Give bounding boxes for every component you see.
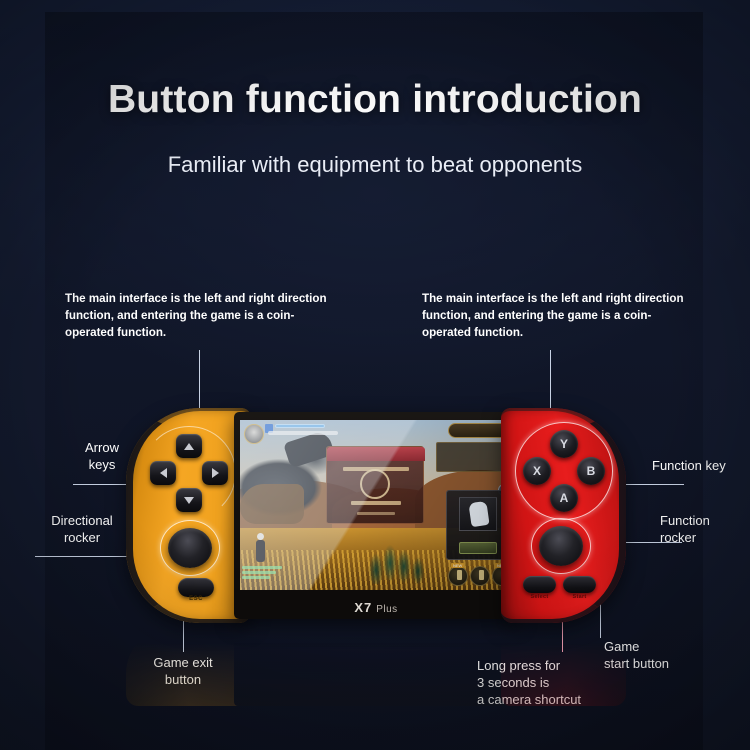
chat-line xyxy=(242,576,270,579)
game-dialog-text xyxy=(351,501,401,505)
label-game-start-button: Game start button xyxy=(604,639,716,673)
label-game-exit-button: Game exit button xyxy=(130,655,236,689)
button-b[interactable]: B xyxy=(577,457,605,485)
button-a[interactable]: A xyxy=(550,484,578,512)
hud-chat-log xyxy=(242,566,284,588)
arrow-down-icon xyxy=(184,497,194,504)
left-analog-stick[interactable] xyxy=(168,528,212,568)
select-button-label: Select xyxy=(523,594,556,600)
console-body: ✕ NEW NEW xyxy=(234,412,518,619)
dpad-glow-ring xyxy=(142,426,236,520)
label-directional-rocker: Directional rocker xyxy=(28,513,136,547)
hud-quest-panel xyxy=(436,442,508,472)
button-y[interactable]: Y xyxy=(550,430,578,458)
right-grip: Y X B A Select Start xyxy=(501,408,626,623)
reflection-body xyxy=(234,632,518,706)
dpad-down-button[interactable] xyxy=(176,488,202,512)
callout-top-left: The main interface is the left and right… xyxy=(65,291,343,341)
face-buttons[interactable]: Y X B A xyxy=(523,430,605,512)
glove-icon xyxy=(468,501,489,527)
game-dialog-header xyxy=(327,447,425,461)
new-badge: NEW xyxy=(451,563,464,568)
trophy-icon xyxy=(457,570,462,580)
chat-line xyxy=(242,566,282,569)
hud-health-bar-frame xyxy=(275,424,325,428)
right-analog-stick[interactable] xyxy=(539,526,583,566)
left-grip: ESC xyxy=(126,408,251,623)
hud-xp-bar xyxy=(268,431,338,435)
button-x[interactable]: X xyxy=(523,457,551,485)
arrow-up-icon xyxy=(184,443,194,450)
esc-button-label: ESC xyxy=(178,596,214,602)
hud-avatar xyxy=(244,424,264,444)
game-hero-character xyxy=(256,540,265,562)
dpad-left-button[interactable] xyxy=(150,461,176,485)
game-dialog[interactable] xyxy=(326,446,424,524)
game-screen[interactable]: ✕ NEW NEW xyxy=(240,420,512,590)
select-button[interactable] xyxy=(523,576,556,593)
dpad-right-button[interactable] xyxy=(202,461,228,485)
right-stick-glow-ring xyxy=(531,518,591,574)
game-dialog-ring-icon xyxy=(360,469,390,499)
page-title: Button function introduction xyxy=(0,78,750,122)
infographic-canvas: Button function introduction Familiar wi… xyxy=(0,0,750,750)
label-function-key: Function key xyxy=(652,458,748,475)
hud-quick-button[interactable] xyxy=(470,566,490,586)
page-subtitle: Familiar with equipment to beat opponent… xyxy=(0,152,750,178)
handheld-console: ESC xyxy=(126,408,626,623)
arrow-left-icon xyxy=(160,468,167,478)
game-bush xyxy=(362,538,432,584)
brand-label: X7Plus xyxy=(234,600,518,615)
brand-suffix: Plus xyxy=(376,604,397,615)
left-stick-glow-ring xyxy=(160,520,220,576)
brand-model: X7 xyxy=(354,600,372,615)
game-dialog-text xyxy=(357,512,395,515)
arrow-right-icon xyxy=(212,468,219,478)
hud-quick-button[interactable]: NEW xyxy=(448,566,468,586)
esc-button[interactable] xyxy=(178,578,214,597)
label-camera-shortcut: Long press for 3 seconds is a camera sho… xyxy=(477,658,617,709)
hud-item-panel[interactable] xyxy=(446,490,508,560)
item-action-button[interactable] xyxy=(459,542,497,554)
start-button-label: Start xyxy=(563,594,596,600)
dpad-up-button[interactable] xyxy=(176,434,202,458)
dpad[interactable] xyxy=(150,434,228,512)
hud-quest-ribbon[interactable] xyxy=(448,423,508,438)
chat-line xyxy=(242,571,276,574)
callout-top-right: The main interface is the left and right… xyxy=(422,291,700,341)
lightning-icon xyxy=(479,570,484,580)
item-slot xyxy=(459,497,497,531)
face-buttons-glow-ring xyxy=(515,422,613,520)
start-button[interactable] xyxy=(563,576,596,593)
